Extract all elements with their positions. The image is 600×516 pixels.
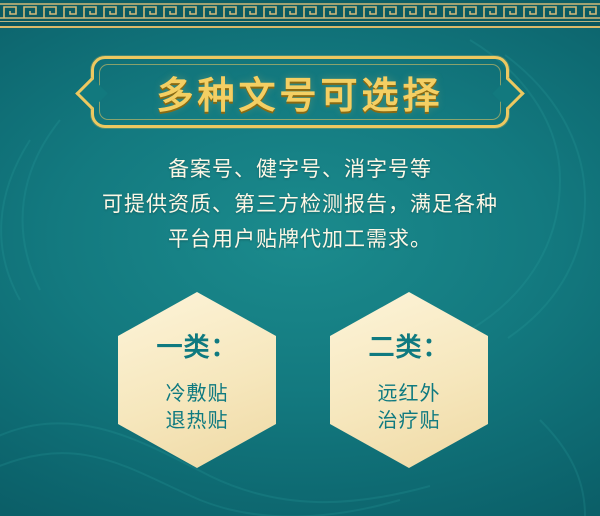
category-card-1: 一类： 冷敷贴 退热贴	[118, 292, 276, 468]
category-2-heading: 二类：	[368, 327, 449, 364]
promo-poster: 多种文号可选择 备案号、健字号、消字号等 可提供资质、第三方检测报告，满足各种 …	[0, 0, 600, 516]
category-card-2-content: 二类： 远红外 治疗贴	[330, 292, 488, 468]
description-block: 备案号、健字号、消字号等 可提供资质、第三方检测报告，满足各种 平台用户贴牌代加…	[0, 152, 600, 257]
category-1-item-1: 冷敷贴	[166, 380, 229, 407]
category-hexagon-row: 一类： 冷敷贴 退热贴 二类： 远红外 治疗贴	[0, 292, 600, 468]
top-ornamental-border	[0, 0, 600, 28]
border-inner-line	[0, 21, 600, 22]
category-1-item-2: 退热贴	[166, 407, 229, 434]
category-1-heading: 一类：	[156, 327, 237, 364]
category-2-item-2: 治疗贴	[378, 407, 441, 434]
description-line-2: 可提供资质、第三方检测报告，满足各种	[0, 187, 600, 222]
page-title: 多种文号可选择	[91, 56, 509, 128]
category-card-2: 二类： 远红外 治疗贴	[330, 292, 488, 468]
greek-fret-pattern-icon	[0, 2, 600, 20]
title-plaque: 多种文号可选择	[91, 56, 509, 128]
category-2-item-1: 远红外	[378, 380, 441, 407]
category-card-1-content: 一类： 冷敷贴 退热贴	[118, 292, 276, 468]
description-line-3: 平台用户贴牌代加工需求。	[0, 222, 600, 257]
description-line-1: 备案号、健字号、消字号等	[0, 152, 600, 187]
